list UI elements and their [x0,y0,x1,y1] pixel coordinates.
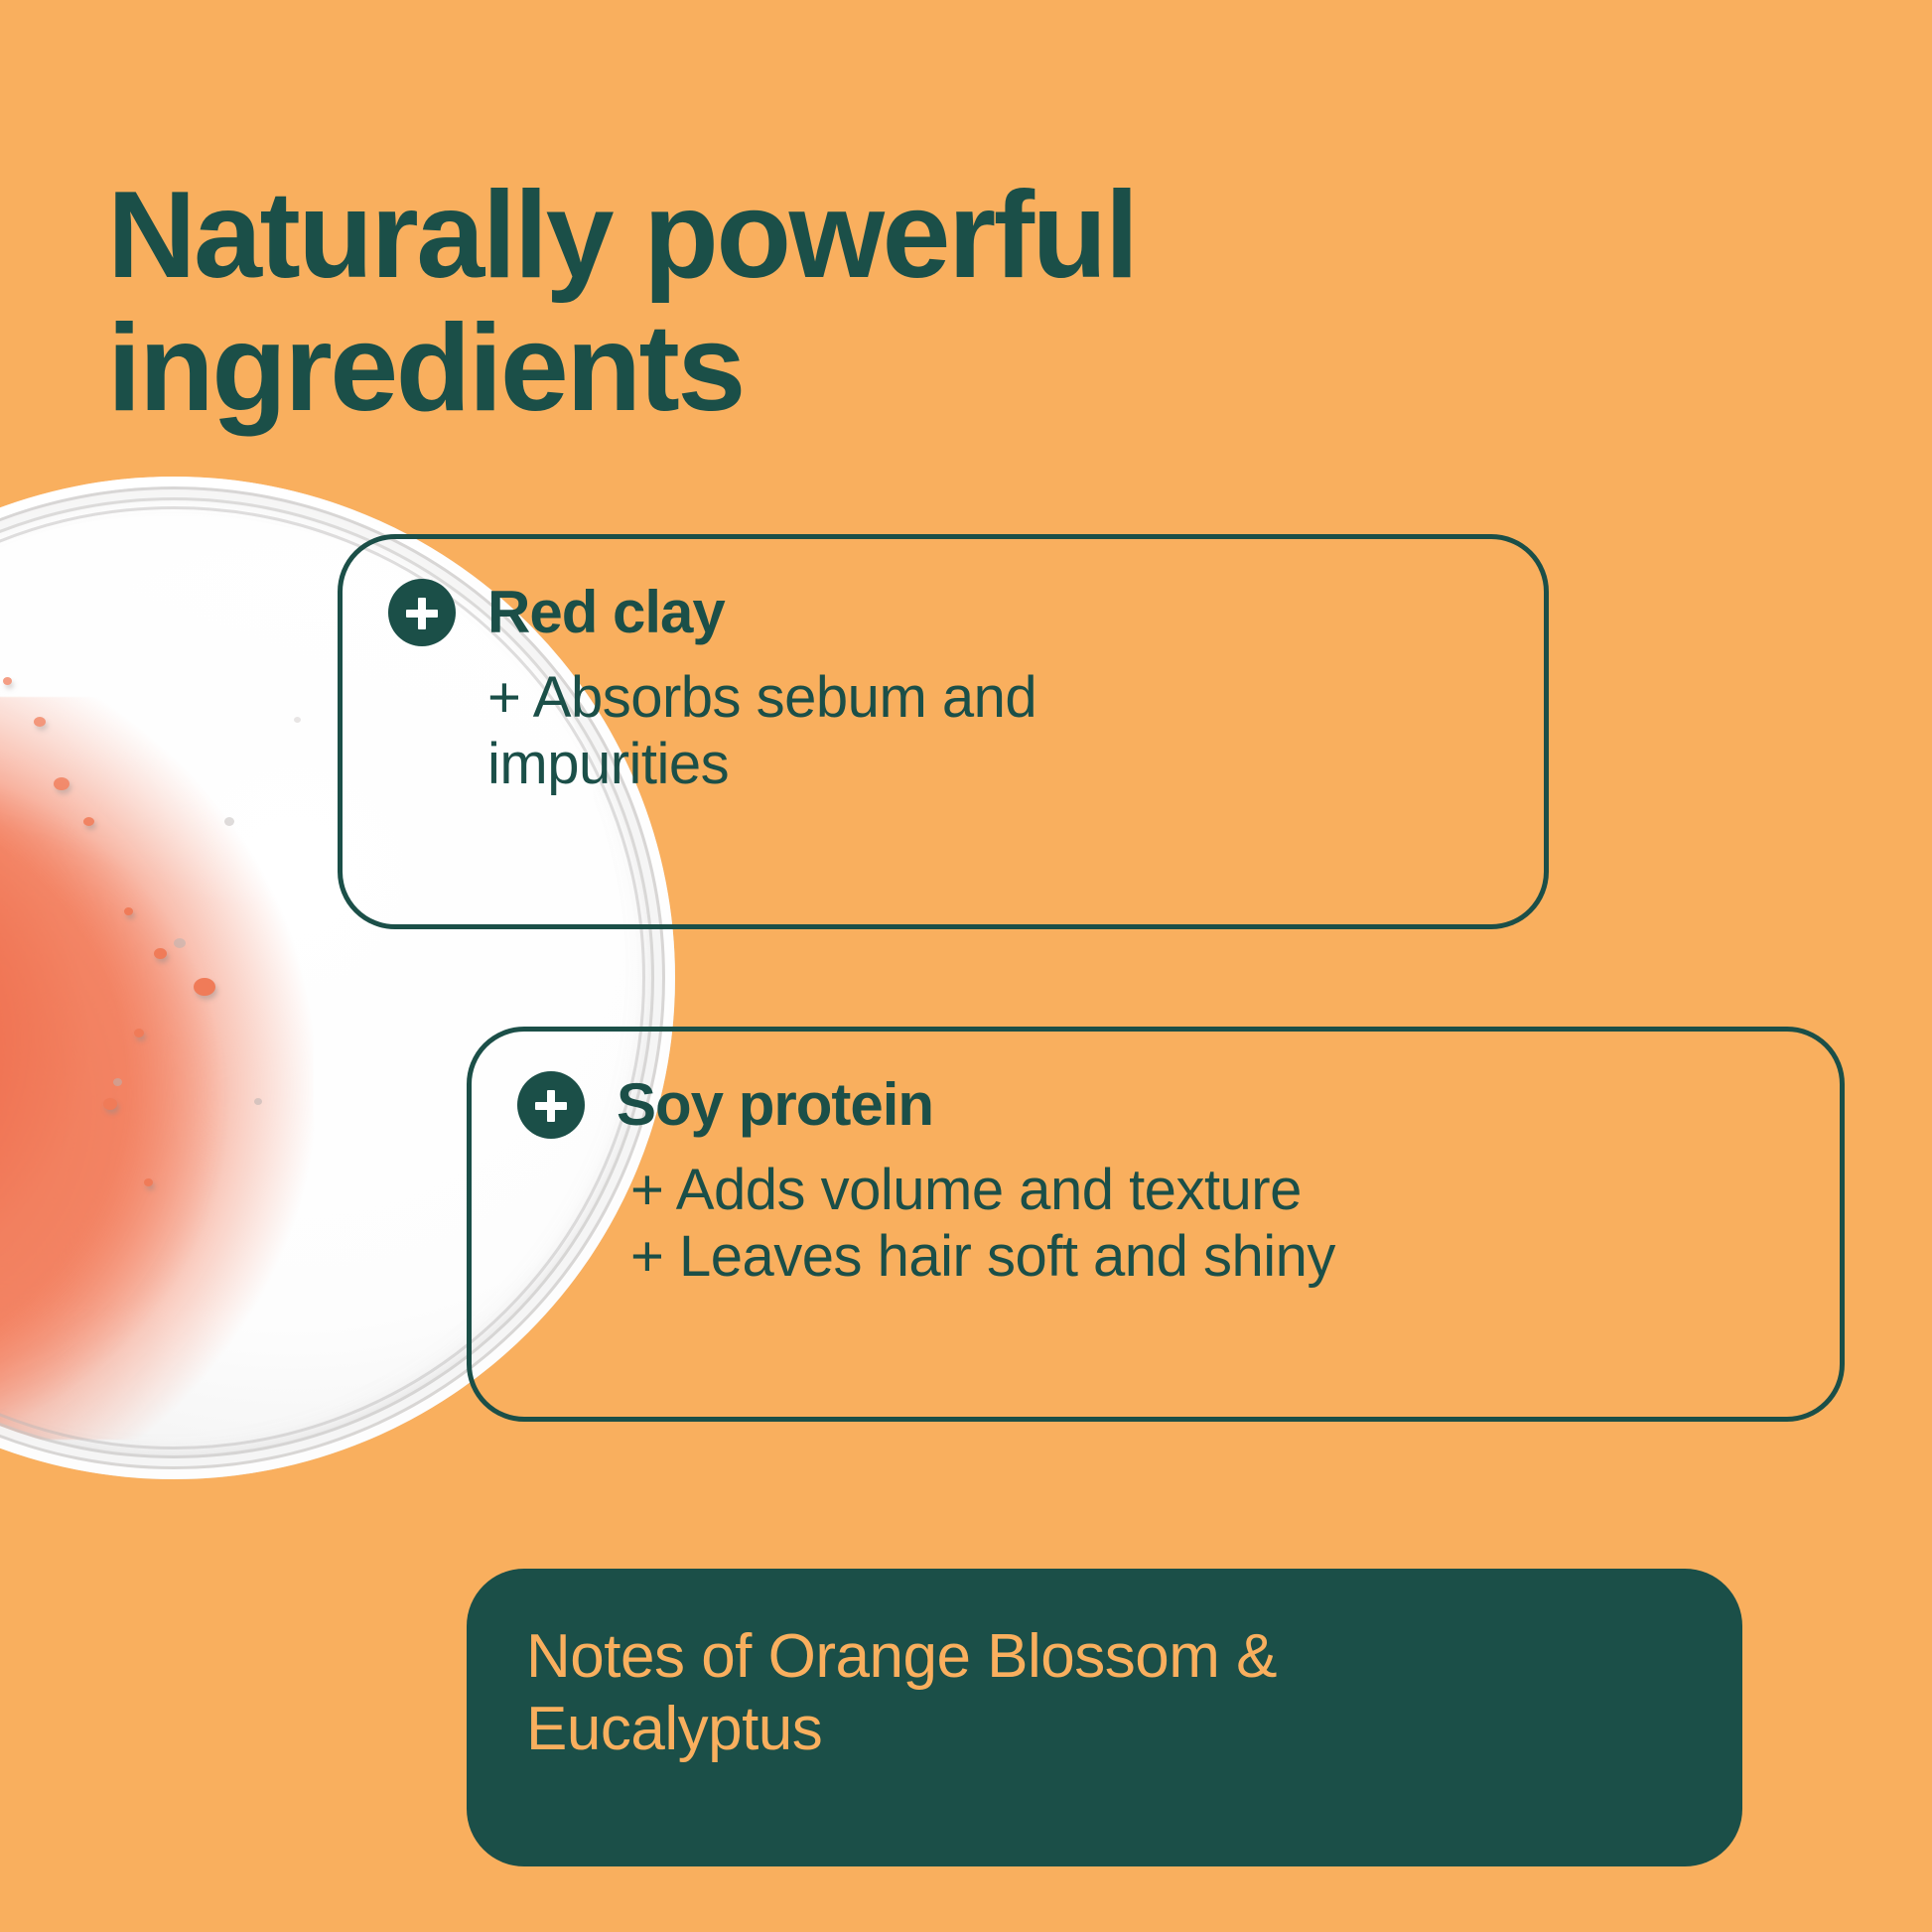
ingredient-header: Red clay [343,539,1544,646]
ingredient-title: Soy protein [617,1075,933,1135]
plus-icon [517,1071,585,1139]
ingredient-card-red-clay: Red clay + Absorbs sebum and impurities [338,534,1549,929]
scent-note-bar: Notes of Orange Blossom & Eucalyptus [467,1569,1742,1866]
ingredient-header: Soy protein [472,1032,1840,1139]
benefit-line: + Leaves hair soft and shiny [630,1223,1840,1290]
ingredient-benefits: + Adds volume and texture + Leaves hair … [472,1139,1840,1291]
ingredient-benefits: + Absorbs sebum and impurities [343,646,1544,798]
plus-icon [388,579,456,646]
page-title: Naturally powerful ingredients [107,170,1398,436]
scent-note-text: Notes of Orange Blossom & Eucalyptus [526,1620,1519,1765]
benefit-line: impurities [487,731,1544,797]
benefit-line: + Adds volume and texture [630,1157,1840,1223]
ingredients-infographic: Naturally powerful ingredients Red clay … [0,0,1932,1932]
benefit-line: + Absorbs sebum and [487,664,1544,731]
ingredient-title: Red clay [487,583,725,642]
ingredient-card-soy-protein: Soy protein + Adds volume and texture + … [467,1027,1845,1422]
